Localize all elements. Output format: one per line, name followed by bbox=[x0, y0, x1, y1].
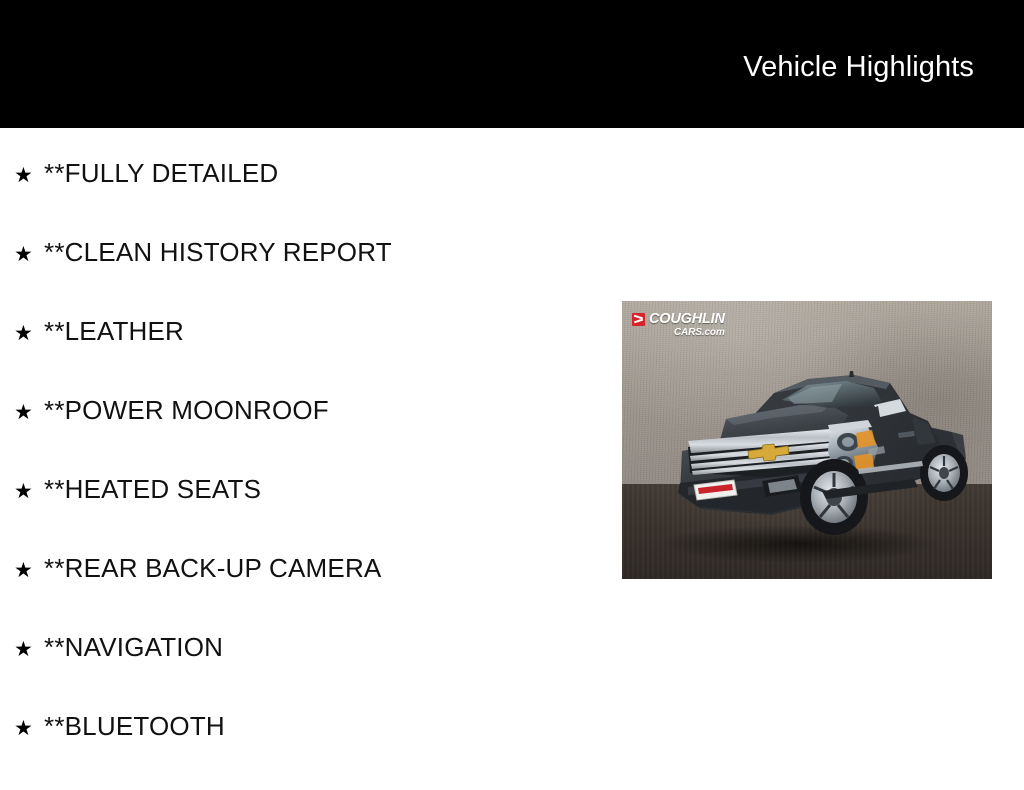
list-item: ★ **REAR BACK-UP CAMERA bbox=[0, 553, 620, 632]
highlight-label: **LEATHER bbox=[44, 316, 620, 346]
list-item: ★ **BLUETOOTH bbox=[0, 711, 620, 790]
star-icon: ★ bbox=[14, 718, 44, 739]
list-item: ★ **NAVIGATION bbox=[0, 632, 620, 711]
highlight-label: **REAR BACK-UP CAMERA bbox=[44, 553, 620, 583]
star-icon: ★ bbox=[14, 323, 44, 344]
star-icon: ★ bbox=[14, 481, 44, 502]
coughlin-logo-icon bbox=[632, 313, 645, 326]
highlight-label: **HEATED SEATS bbox=[44, 474, 620, 504]
star-icon: ★ bbox=[14, 165, 44, 186]
list-item: ★ **FULLY DETAILED bbox=[0, 128, 620, 237]
vehicle-highlights-list: ★ **FULLY DETAILED ★ **CLEAN HISTORY REP… bbox=[0, 128, 620, 790]
truck-illustration bbox=[622, 301, 992, 579]
vehicle-photo: COUGHLIN CARS.com bbox=[622, 301, 992, 579]
highlight-label: **FULLY DETAILED bbox=[44, 158, 620, 188]
highlight-label: **CLEAN HISTORY REPORT bbox=[44, 237, 620, 267]
list-item: ★ **POWER MOONROOF bbox=[0, 395, 620, 474]
header-bar: Vehicle Highlights bbox=[0, 0, 1024, 128]
highlight-label: **NAVIGATION bbox=[44, 632, 620, 662]
star-icon: ★ bbox=[14, 402, 44, 423]
highlight-label: **POWER MOONROOF bbox=[44, 395, 620, 425]
list-item: ★ **HEATED SEATS bbox=[0, 474, 620, 553]
star-icon: ★ bbox=[14, 244, 44, 265]
page-title: Vehicle Highlights bbox=[743, 50, 974, 84]
list-item: ★ **CLEAN HISTORY REPORT bbox=[0, 237, 620, 316]
list-item: ★ **LEATHER bbox=[0, 316, 620, 395]
dealer-watermark: COUGHLIN CARS.com bbox=[632, 312, 725, 338]
star-icon: ★ bbox=[14, 639, 44, 660]
star-icon: ★ bbox=[14, 560, 44, 581]
watermark-brand: COUGHLIN bbox=[649, 312, 725, 327]
highlight-label: **BLUETOOTH bbox=[44, 711, 620, 741]
watermark-sub: CARS.com bbox=[649, 328, 725, 338]
